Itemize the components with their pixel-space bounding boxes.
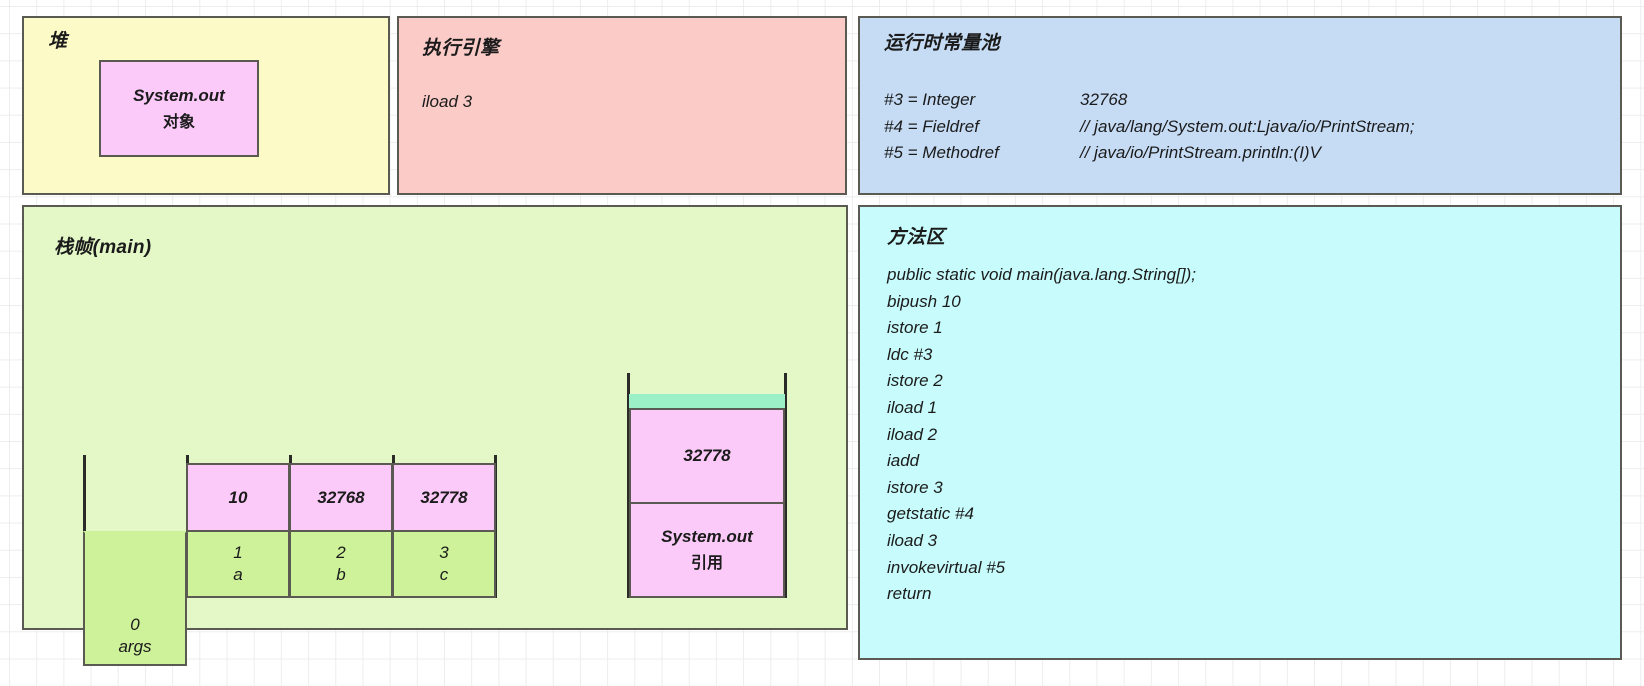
lvt-slot-2-name: b (336, 564, 345, 586)
lvt-slot-3-index: 3 (439, 542, 448, 564)
operand-stack-cell-bottom-line1: System.out (661, 527, 753, 547)
lvt-slot-0-index: 0 (130, 614, 139, 636)
operand-stack-top-marker (629, 394, 785, 408)
lvt-slot-1-name: a (233, 564, 242, 586)
constant-pool-entry: #3 = Integer 32768 (884, 87, 1415, 114)
operand-stack-cell-bottom-line2: 引用 (691, 549, 723, 573)
code-line: invokevirtual #5 (887, 555, 1196, 582)
code-line: return (887, 581, 1196, 608)
lvt-slot-0-label: 0 args (83, 531, 187, 666)
diagram-canvas: 堆 System.out 对象 执行引擎 iload 3 运行时常量池 #3 =… (0, 0, 1644, 686)
lvt-slot-3-value: 32778 (392, 463, 496, 531)
execution-engine-title: 执行引擎 (422, 33, 499, 60)
heap-object-line2: 对象 (163, 108, 195, 132)
method-area-code: public static void main(java.lang.String… (887, 262, 1196, 608)
code-line: iload 2 (887, 422, 1196, 449)
local-variable-table: 0 args 10 1 a 32768 2 b 32778 3 c (83, 463, 497, 598)
code-line: iadd (887, 448, 1196, 475)
lvt-slot-2-label: 2 b (289, 531, 393, 598)
code-line: istore 2 (887, 368, 1196, 395)
lvt-slot-2: 32768 2 b (289, 463, 393, 598)
constant-pool-entry-value: // java/io/PrintStream.println:(I)V (1080, 140, 1321, 167)
runtime-constant-pool-title: 运行时常量池 (884, 28, 1000, 55)
constant-pool-entry-value: // java/lang/System.out:Ljava/io/PrintSt… (1080, 114, 1415, 141)
heap-system-out-object: System.out 对象 (99, 60, 259, 157)
code-line: iload 3 (887, 528, 1196, 555)
stack-frame-title: 栈帧(main) (54, 232, 151, 259)
code-line: ldc #3 (887, 342, 1196, 369)
constant-pool-entry-key: #3 = Integer (884, 87, 1080, 114)
lvt-slot-2-index: 2 (336, 542, 345, 564)
constant-pool-entry: #4 = Fieldref // java/lang/System.out:Lj… (884, 114, 1415, 141)
constant-pool-entry-value: 32768 (1080, 87, 1127, 114)
code-line: getstatic #4 (887, 501, 1196, 528)
constant-pool-entries: #3 = Integer 32768 #4 = Fieldref // java… (884, 87, 1415, 167)
code-line: istore 3 (887, 475, 1196, 502)
lvt-slot-0-value (83, 463, 187, 531)
constant-pool-entry-key: #5 = Methodref (884, 140, 1080, 167)
heap-object-line1: System.out (133, 86, 225, 106)
operand-stack-cell-top: 32778 (629, 408, 785, 503)
lvt-slot-3-name: c (440, 564, 449, 586)
lvt-slot-2-value: 32768 (289, 463, 393, 531)
operand-stack: 32778 System.out 引用 (627, 373, 787, 598)
lvt-slot-1-label: 1 a (186, 531, 290, 598)
operand-stack-cell-bottom: System.out 引用 (629, 503, 785, 598)
lvt-slot-0: 0 args (83, 463, 187, 598)
lvt-slot-3: 32778 3 c (392, 463, 496, 598)
current-instruction: iload 3 (422, 89, 472, 116)
heap-title: 堆 (48, 26, 67, 53)
lvt-slot-3-label: 3 c (392, 531, 496, 598)
lvt-slot-1-index: 1 (233, 542, 242, 564)
operand-stack-cells: 32778 System.out 引用 (629, 394, 785, 598)
code-line: iload 1 (887, 395, 1196, 422)
method-area-title: 方法区 (887, 222, 945, 249)
constant-pool-entry-key: #4 = Fieldref (884, 114, 1080, 141)
lvt-slot-1: 10 1 a (186, 463, 290, 598)
lvt-slot-0-name: args (118, 636, 151, 658)
code-line: istore 1 (887, 315, 1196, 342)
code-line: bipush 10 (887, 289, 1196, 316)
lvt-slot-1-value: 10 (186, 463, 290, 531)
constant-pool-entry: #5 = Methodref // java/io/PrintStream.pr… (884, 140, 1415, 167)
code-line: public static void main(java.lang.String… (887, 262, 1196, 289)
